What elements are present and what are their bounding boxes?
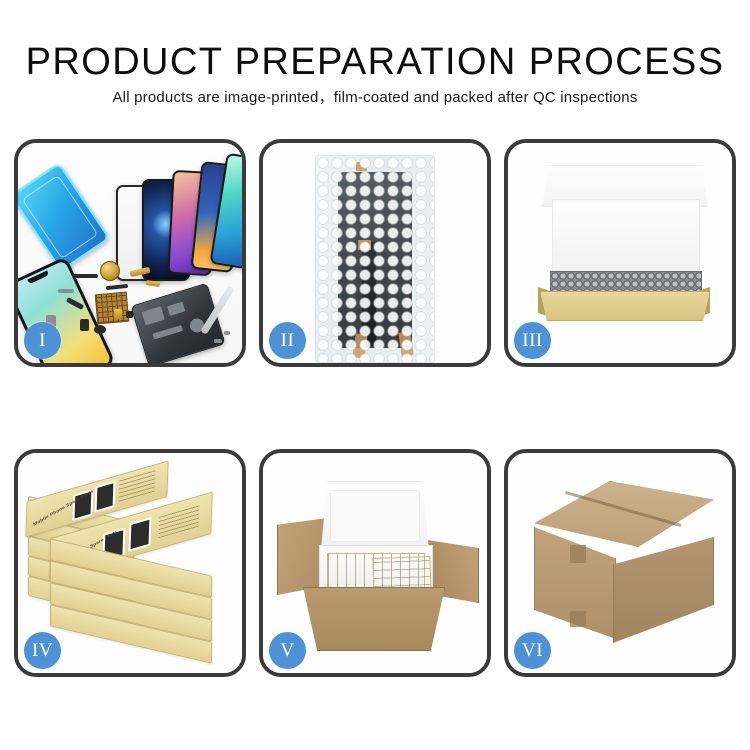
product-preparation-infographic: PRODUCT PREPARATION PROCESS All products… [0, 0, 750, 750]
antenna-strip-part [72, 274, 98, 278]
speaker-part [94, 325, 106, 334]
process-step-1: I [14, 139, 246, 367]
box-window-screen [95, 481, 116, 513]
box-window-screen [128, 517, 151, 552]
flex-strip-part [106, 284, 128, 290]
phone-notch-icon [27, 270, 49, 284]
process-steps-grid: I II [14, 139, 736, 691]
process-step-4: Mobile Phone Spare Parts Mobile Phone Sp… [14, 449, 246, 677]
process-step-2: II [259, 139, 491, 367]
page-subtitle: All products are image-printed，film-coat… [0, 88, 750, 107]
step-3-panel: III [504, 139, 736, 367]
step-badge-3: III [514, 322, 551, 359]
foam-insert-part [554, 203, 696, 271]
carton-tape-lower [570, 611, 586, 627]
gold-contact-part [146, 280, 161, 287]
gold-chip-part [114, 309, 122, 319]
bubble-wrap-bag-icon [315, 155, 435, 363]
adhesive-film-icon [14, 162, 111, 272]
process-step-5: V [259, 449, 491, 677]
step-badge-4: IV [24, 632, 61, 669]
carton-top-face [534, 481, 714, 547]
process-step-6: VI [504, 449, 736, 677]
step-4-panel: Mobile Phone Spare Parts Mobile Phone Sp… [14, 449, 246, 677]
vibration-motor-icon [100, 261, 120, 281]
box-text-lines [119, 469, 156, 502]
box-text-lines [159, 502, 200, 538]
step-6-panel: VI [504, 449, 736, 677]
step-badge-1: I [24, 322, 61, 359]
screw-tray-icon [95, 292, 129, 325]
step-2-panel: II [259, 139, 491, 367]
step-1-panel: I [14, 139, 246, 367]
bubble-texture [316, 156, 434, 362]
screw-part [224, 331, 230, 335]
box-front-panel-part [540, 291, 710, 321]
camera-module-part [80, 319, 89, 331]
carton-tape-upper [570, 545, 586, 563]
screw-part [214, 339, 222, 343]
step-badge-2: II [269, 322, 306, 359]
metal-bracket-part [58, 289, 74, 293]
step-5-panel: V [259, 449, 491, 677]
step-badge-5: V [269, 632, 306, 669]
foam-lid-part [321, 481, 429, 549]
carton-body-part [303, 587, 445, 651]
step-badge-6: VI [514, 632, 551, 669]
process-step-3: III [504, 139, 736, 367]
carton-right-face [613, 537, 714, 643]
page-title: PRODUCT PREPARATION PROCESS [0, 42, 750, 82]
